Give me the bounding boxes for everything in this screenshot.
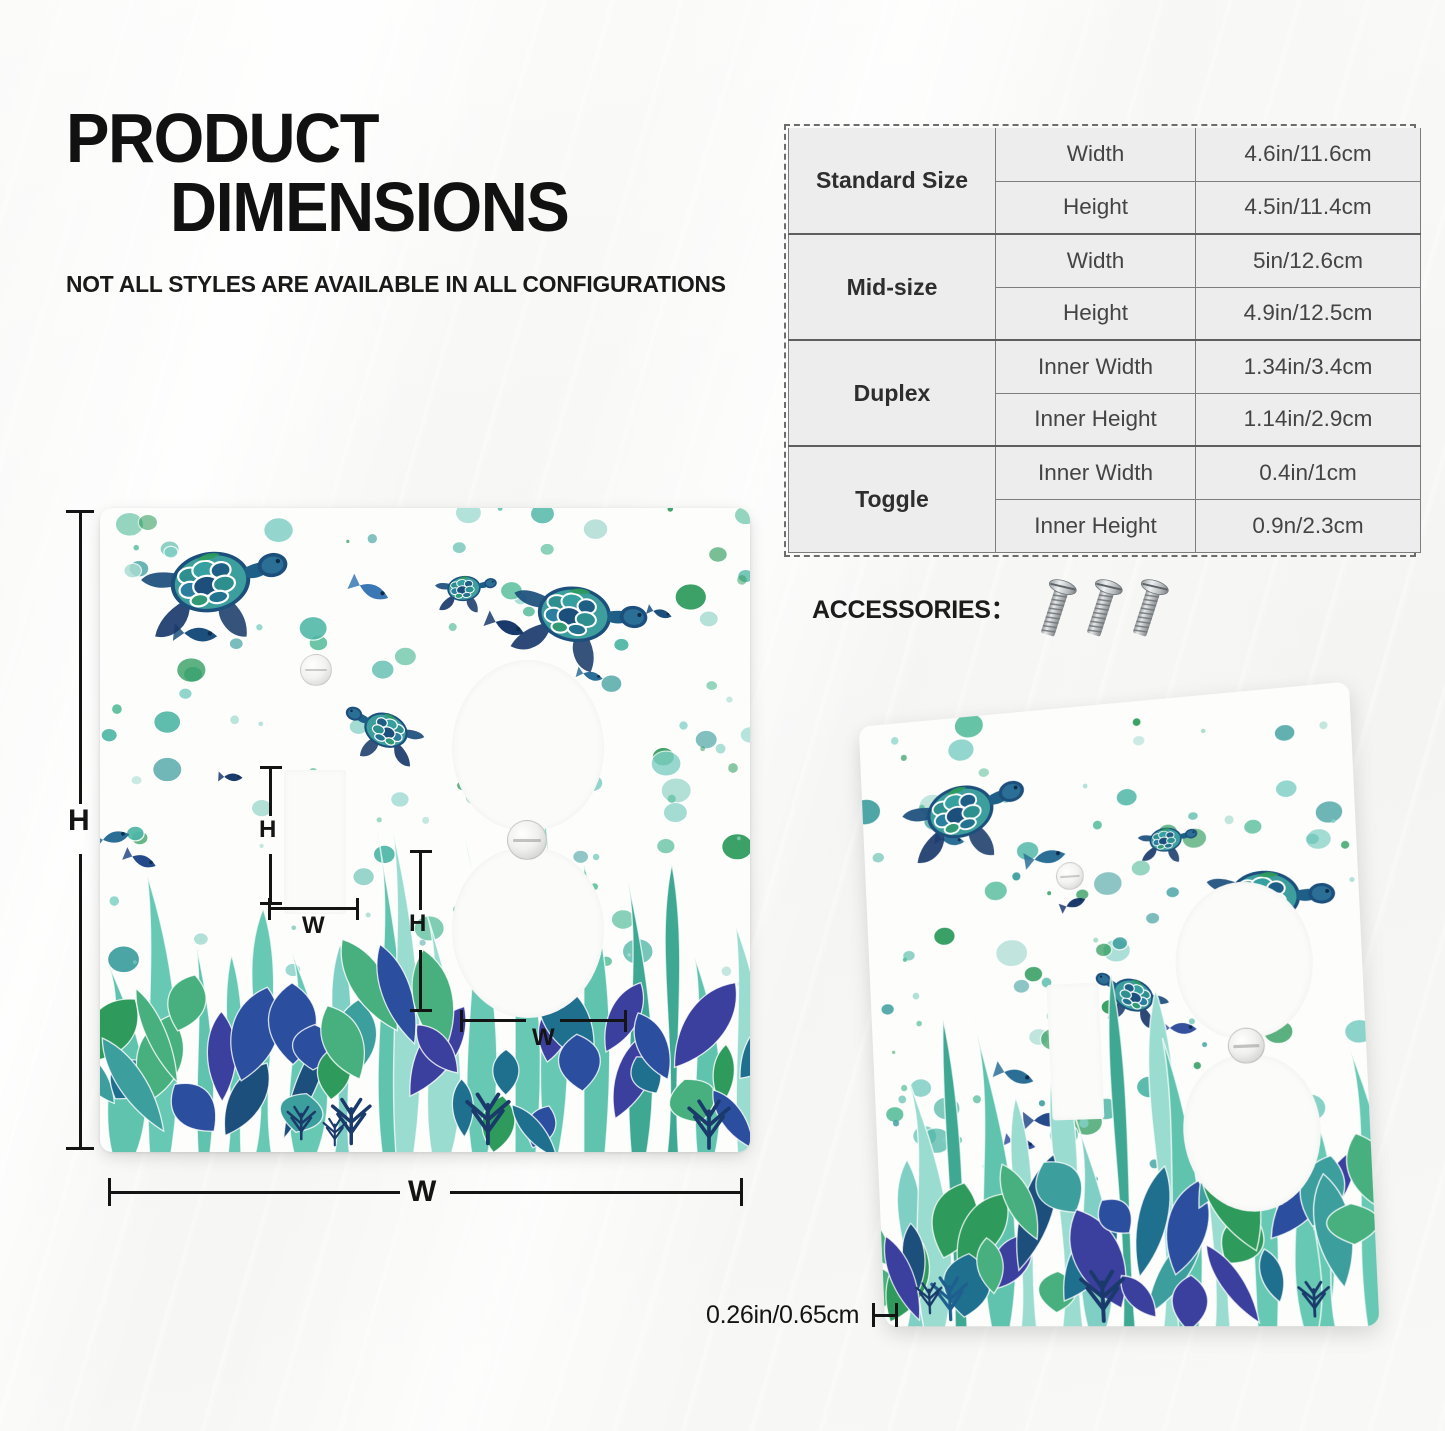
duplex-outlet-cutout-angled: [859, 681, 1380, 1326]
table-dimension-value: 4.6in/11.6cm: [1196, 128, 1421, 181]
product-front-view: [100, 508, 750, 1152]
duplex-inner-width-dimension: W: [460, 1008, 628, 1058]
table-row: ToggleInner Width0.4in/1cm: [789, 446, 1421, 499]
duplex-inner-width-label: W: [532, 1026, 555, 1050]
table-dimension-value: 0.9n/2.3cm: [1196, 499, 1421, 552]
thickness-dimension: 0.26in/0.65cm: [706, 1300, 898, 1330]
screw-icon: [1030, 572, 1082, 643]
dimensions-table: Standard SizeWidth4.6in/11.6cmHeight4.5i…: [788, 128, 1421, 553]
table-row: Standard SizeWidth4.6in/11.6cm: [789, 128, 1421, 181]
duplex-center-screw: [507, 820, 547, 860]
screw-icon: [1076, 572, 1128, 643]
page-title: PRODUCT DIMENSIONS NOT ALL STYLES ARE AV…: [66, 104, 766, 298]
table-dimension-label: Inner Width: [996, 446, 1196, 499]
table-dimension-value: 5in/12.6cm: [1196, 234, 1421, 287]
table-group-label: Duplex: [789, 340, 996, 446]
thickness-caliper-icon: [872, 1300, 898, 1330]
table-group-label: Standard Size: [789, 128, 996, 234]
screw-icon: [1122, 572, 1174, 643]
outer-width-label: W: [408, 1177, 436, 1207]
thickness-label: 0.26in/0.65cm: [706, 1301, 859, 1330]
outer-height-dimension: H: [62, 510, 98, 1150]
screw-group: [1039, 576, 1165, 640]
spec-table-container: Standard SizeWidth4.6in/11.6cmHeight4.5i…: [784, 124, 1416, 557]
mounting-screw-top: [300, 654, 332, 686]
table-group-label: Toggle: [789, 446, 996, 552]
toggle-inner-height-label: H: [259, 818, 276, 842]
toggle-inner-width-dimension: W: [268, 896, 360, 946]
table-dimension-value: 0.4in/1cm: [1196, 446, 1421, 499]
table-group-label: Mid-size: [789, 234, 996, 340]
table-dimension-label: Height: [996, 181, 1196, 234]
outer-width-dimension: W: [108, 1174, 744, 1214]
toggle-inner-height-dimension: H: [258, 766, 286, 906]
duplex-outlet-cutout: [100, 508, 750, 1152]
table-dimension-label: Width: [996, 128, 1196, 181]
table-dimension-label: Height: [996, 287, 1196, 340]
table-dimension-label: Width: [996, 234, 1196, 287]
table-dimension-label: Inner Width: [996, 340, 1196, 393]
table-row: Mid-sizeWidth5in/12.6cm: [789, 234, 1421, 287]
product-angled-view: [859, 681, 1380, 1326]
table-dimension-value: 1.34in/3.4cm: [1196, 340, 1421, 393]
page-subtitle: NOT ALL STYLES ARE AVAILABLE IN ALL CONF…: [66, 271, 745, 298]
title-line-2: DIMENSIONS: [170, 173, 724, 242]
table-dimension-label: Inner Height: [996, 393, 1196, 446]
accessories-section: ACCESSORIES：: [812, 576, 1165, 640]
outer-height-label: H: [68, 806, 90, 836]
toggle-inner-width-label: W: [302, 914, 325, 938]
table-dimension-value: 1.14in/2.9cm: [1196, 393, 1421, 446]
table-row: DuplexInner Width1.34in/3.4cm: [789, 340, 1421, 393]
table-dimension-value: 4.9in/12.5cm: [1196, 287, 1421, 340]
table-dimension-label: Inner Height: [996, 499, 1196, 552]
duplex-inner-height-dimension: H: [408, 850, 436, 1014]
duplex-inner-height-label: H: [409, 912, 426, 936]
title-line-1: PRODUCT: [66, 104, 717, 173]
accessories-label: ACCESSORIES：: [812, 590, 1015, 626]
table-dimension-value: 4.5in/11.4cm: [1196, 181, 1421, 234]
